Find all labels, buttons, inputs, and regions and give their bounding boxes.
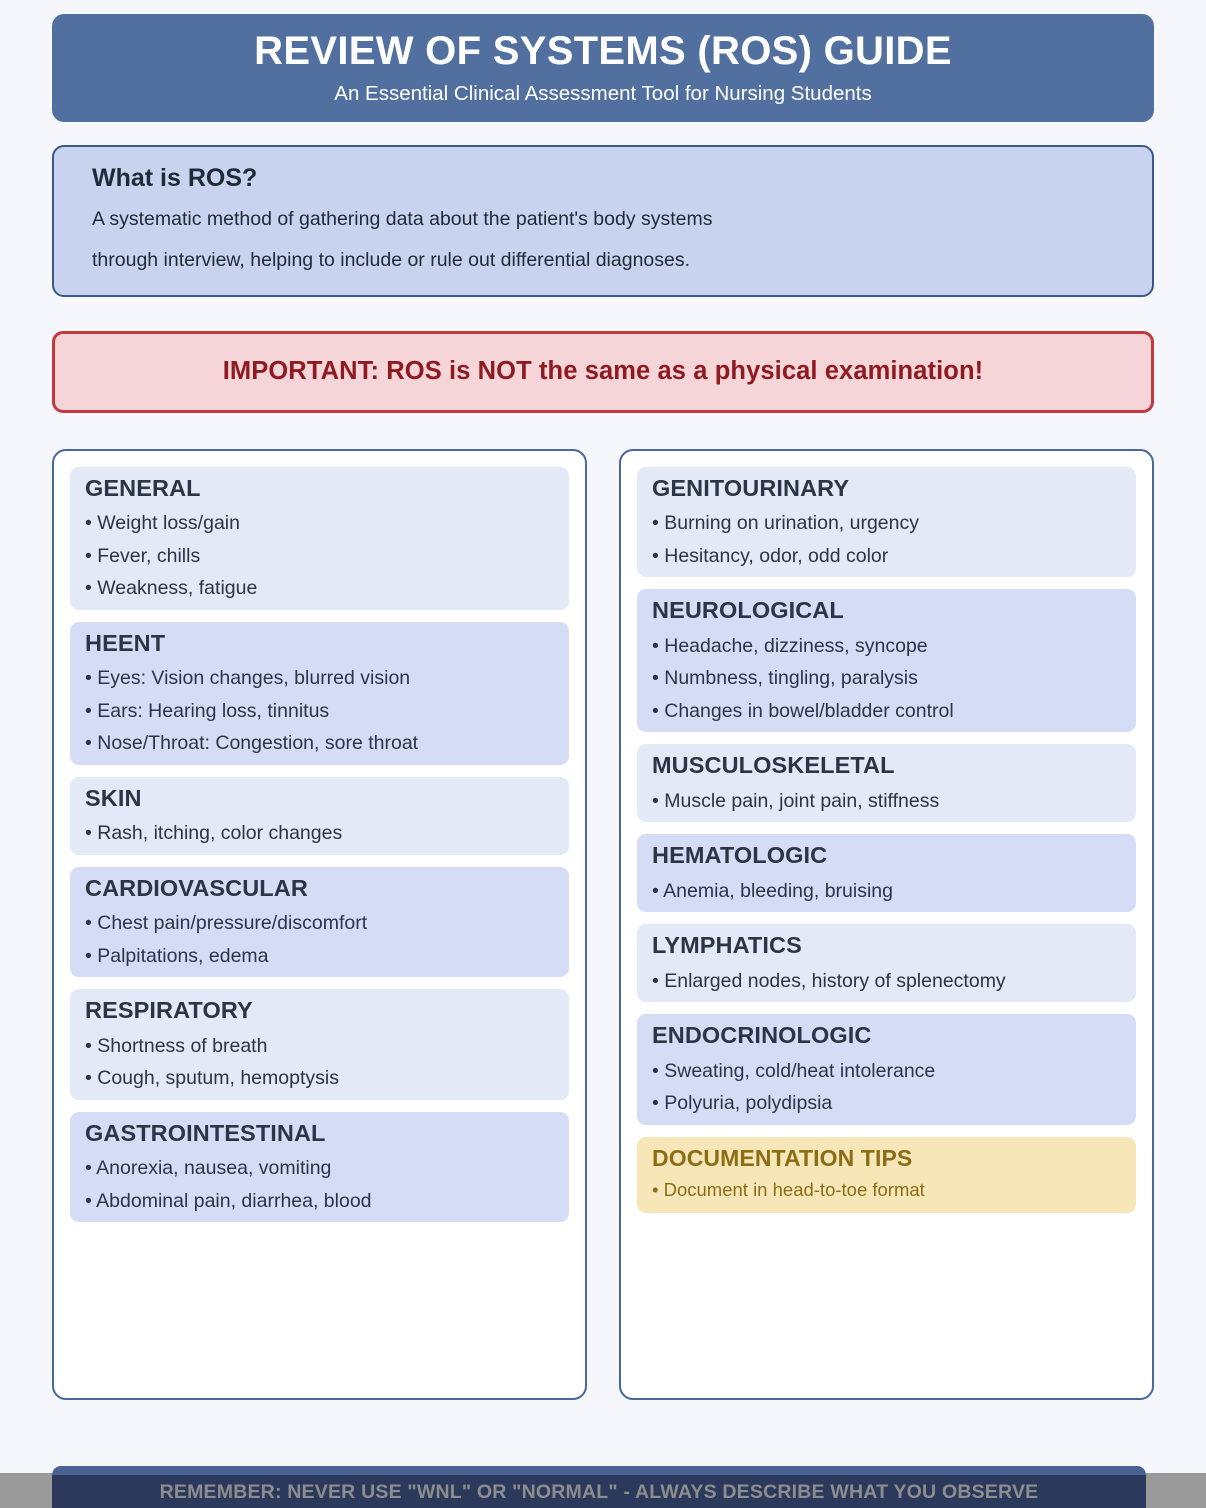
- system-card-item: • Burning on urination, urgency: [652, 514, 1121, 534]
- system-card-heent: HEENT• Eyes: Vision changes, blurred vis…: [70, 622, 569, 765]
- system-card-item: • Fever, chills: [85, 547, 554, 567]
- system-card-item: • Hesitancy, odor, odd color: [652, 547, 1121, 567]
- page-title: REVIEW OF SYSTEMS (ROS) GUIDE: [72, 28, 1134, 74]
- system-card-item: • Anorexia, nausea, vomiting: [85, 1159, 554, 1179]
- what-is-ros-box: What is ROS? A systematic method of gath…: [52, 145, 1154, 297]
- system-card-item: • Numbness, tingling, paralysis: [652, 669, 1121, 689]
- system-card-title: SKIN: [85, 787, 554, 811]
- system-card-lymphatics: LYMPHATICS• Enlarged nodes, history of s…: [637, 924, 1136, 1002]
- system-card-item: • Palpitations, edema: [85, 947, 554, 967]
- system-card-item: • Nose/Throat: Congestion, sore throat: [85, 734, 554, 754]
- system-card-respiratory: RESPIRATORY• Shortness of breath• Cough,…: [70, 989, 569, 1100]
- system-card-title: LYMPHATICS: [652, 934, 1121, 958]
- poster-header: REVIEW OF SYSTEMS (ROS) GUIDE An Essenti…: [52, 14, 1154, 122]
- system-card-title: RESPIRATORY: [85, 999, 554, 1023]
- system-card-item: • Chest pain/pressure/discomfort: [85, 914, 554, 934]
- system-card-item: • Sweating, cold/heat intolerance: [652, 1062, 1121, 1082]
- system-card-title: CARDIOVASCULAR: [85, 877, 554, 901]
- left-systems-panel: GENERAL• Weight loss/gain• Fever, chills…: [52, 449, 587, 1400]
- what-is-ros-title: What is ROS?: [92, 164, 1114, 193]
- page-subtitle: An Essential Clinical Assessment Tool fo…: [72, 83, 1134, 106]
- remember-footer-text: REMEMBER: NEVER USE "WNL" OR "NORMAL" - …: [160, 1479, 1039, 1504]
- footer-region: REMEMBER: NEVER USE "WNL" OR "NORMAL" - …: [52, 1466, 1146, 1508]
- system-card-item: • Anemia, bleeding, bruising: [652, 882, 1121, 902]
- system-card-skin: SKIN• Rash, itching, color changes: [70, 777, 569, 855]
- poster-page: REVIEW OF SYSTEMS (ROS) GUIDE An Essenti…: [0, 0, 1206, 1473]
- what-is-ros-line-1: A systematic method of gathering data ab…: [92, 210, 1114, 230]
- system-card-item: • Ears: Hearing loss, tinnitus: [85, 702, 554, 722]
- system-card-general: GENERAL• Weight loss/gain• Fever, chills…: [70, 467, 569, 610]
- system-card-title: ENDOCRINOLOGIC: [652, 1024, 1121, 1048]
- system-card-item: • Polyuria, polydipsia: [652, 1094, 1121, 1114]
- important-alert-box: IMPORTANT: ROS is NOT the same as a phys…: [52, 331, 1154, 413]
- system-card-gastrointestinal: GASTROINTESTINAL• Anorexia, nausea, vomi…: [70, 1112, 569, 1223]
- system-card-title: GASTROINTESTINAL: [85, 1122, 554, 1146]
- system-card-item: • Document in head-to-toe format: [652, 1181, 1121, 1200]
- system-card-cardiovascular: CARDIOVASCULAR• Chest pain/pressure/disc…: [70, 867, 569, 978]
- system-card-item: • Enlarged nodes, history of splenectomy: [652, 972, 1121, 992]
- system-card-title: HEMATOLOGIC: [652, 844, 1121, 868]
- system-card-title: GENITOURINARY: [652, 477, 1121, 501]
- system-card-genitourinary: GENITOURINARY• Burning on urination, urg…: [637, 467, 1136, 578]
- systems-columns: GENERAL• Weight loss/gain• Fever, chills…: [52, 449, 1154, 1400]
- system-card-neurological: NEUROLOGICAL• Headache, dizziness, synco…: [637, 589, 1136, 732]
- right-systems-panel: GENITOURINARY• Burning on urination, urg…: [619, 449, 1154, 1400]
- system-card-item: • Weakness, fatigue: [85, 579, 554, 599]
- system-card-documentation-tips: DOCUMENTATION TIPS• Document in head-to-…: [637, 1137, 1136, 1214]
- important-alert-text: IMPORTANT: ROS is NOT the same as a phys…: [65, 357, 1141, 386]
- system-card-item: • Muscle pain, joint pain, stiffness: [652, 792, 1121, 812]
- system-card-item: • Eyes: Vision changes, blurred vision: [85, 669, 554, 689]
- system-card-endocrinologic: ENDOCRINOLOGIC• Sweating, cold/heat into…: [637, 1014, 1136, 1125]
- system-card-item: • Shortness of breath: [85, 1037, 554, 1057]
- system-card-title: DOCUMENTATION TIPS: [652, 1147, 1121, 1170]
- system-card-item: • Abdominal pain, diarrhea, blood: [85, 1192, 554, 1212]
- system-card-hematologic: HEMATOLOGIC• Anemia, bleeding, bruising: [637, 834, 1136, 912]
- system-card-title: HEENT: [85, 632, 554, 656]
- system-card-item: • Headache, dizziness, syncope: [652, 637, 1121, 657]
- system-card-item: • Changes in bowel/bladder control: [652, 702, 1121, 722]
- system-card-title: NEUROLOGICAL: [652, 599, 1121, 623]
- system-card-title: MUSCULOSKELETAL: [652, 754, 1121, 778]
- system-card-musculoskeletal: MUSCULOSKELETAL• Muscle pain, joint pain…: [637, 744, 1136, 822]
- system-card-item: • Rash, itching, color changes: [85, 824, 554, 844]
- system-card-title: GENERAL: [85, 477, 554, 501]
- remember-footer-bar: REMEMBER: NEVER USE "WNL" OR "NORMAL" - …: [52, 1466, 1146, 1508]
- system-card-item: • Cough, sputum, hemoptysis: [85, 1069, 554, 1089]
- system-card-item: • Weight loss/gain: [85, 514, 554, 534]
- what-is-ros-line-2: through interview, helping to include or…: [92, 251, 1114, 271]
